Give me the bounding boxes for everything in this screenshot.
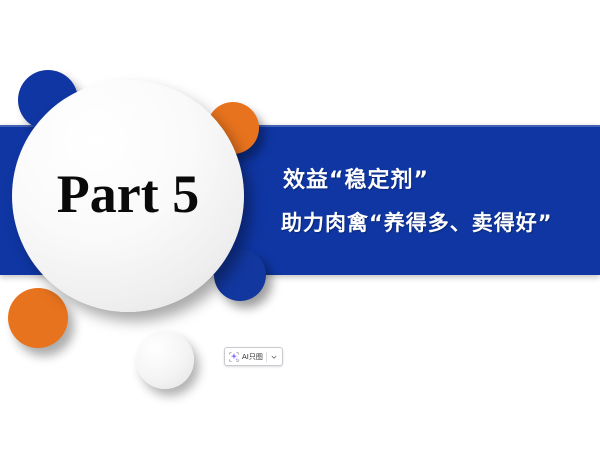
ai-assist-button[interactable]: AI只图 <box>224 347 283 366</box>
part-number-label: Part 5 <box>57 163 199 225</box>
sparkle-icon <box>229 352 239 362</box>
ai-assist-label: AI只图 <box>242 352 263 362</box>
title-line-1: 效益“稳定剂” <box>283 160 593 202</box>
circle-orange-bottom-left <box>8 288 68 348</box>
slide-canvas: 效益“稳定剂” 助力肉禽“养得多、卖得好” Part 5 AI只图 <box>0 0 600 450</box>
chevron-down-icon[interactable] <box>270 352 278 362</box>
section-title: 效益“稳定剂” 助力肉禽“养得多、卖得好” <box>283 160 593 244</box>
circle-white-small <box>136 331 194 389</box>
title-line-2: 助力肉禽“养得多、卖得好” <box>281 202 593 244</box>
part-circle: Part 5 <box>12 80 244 312</box>
ai-widget-divider <box>266 352 267 362</box>
